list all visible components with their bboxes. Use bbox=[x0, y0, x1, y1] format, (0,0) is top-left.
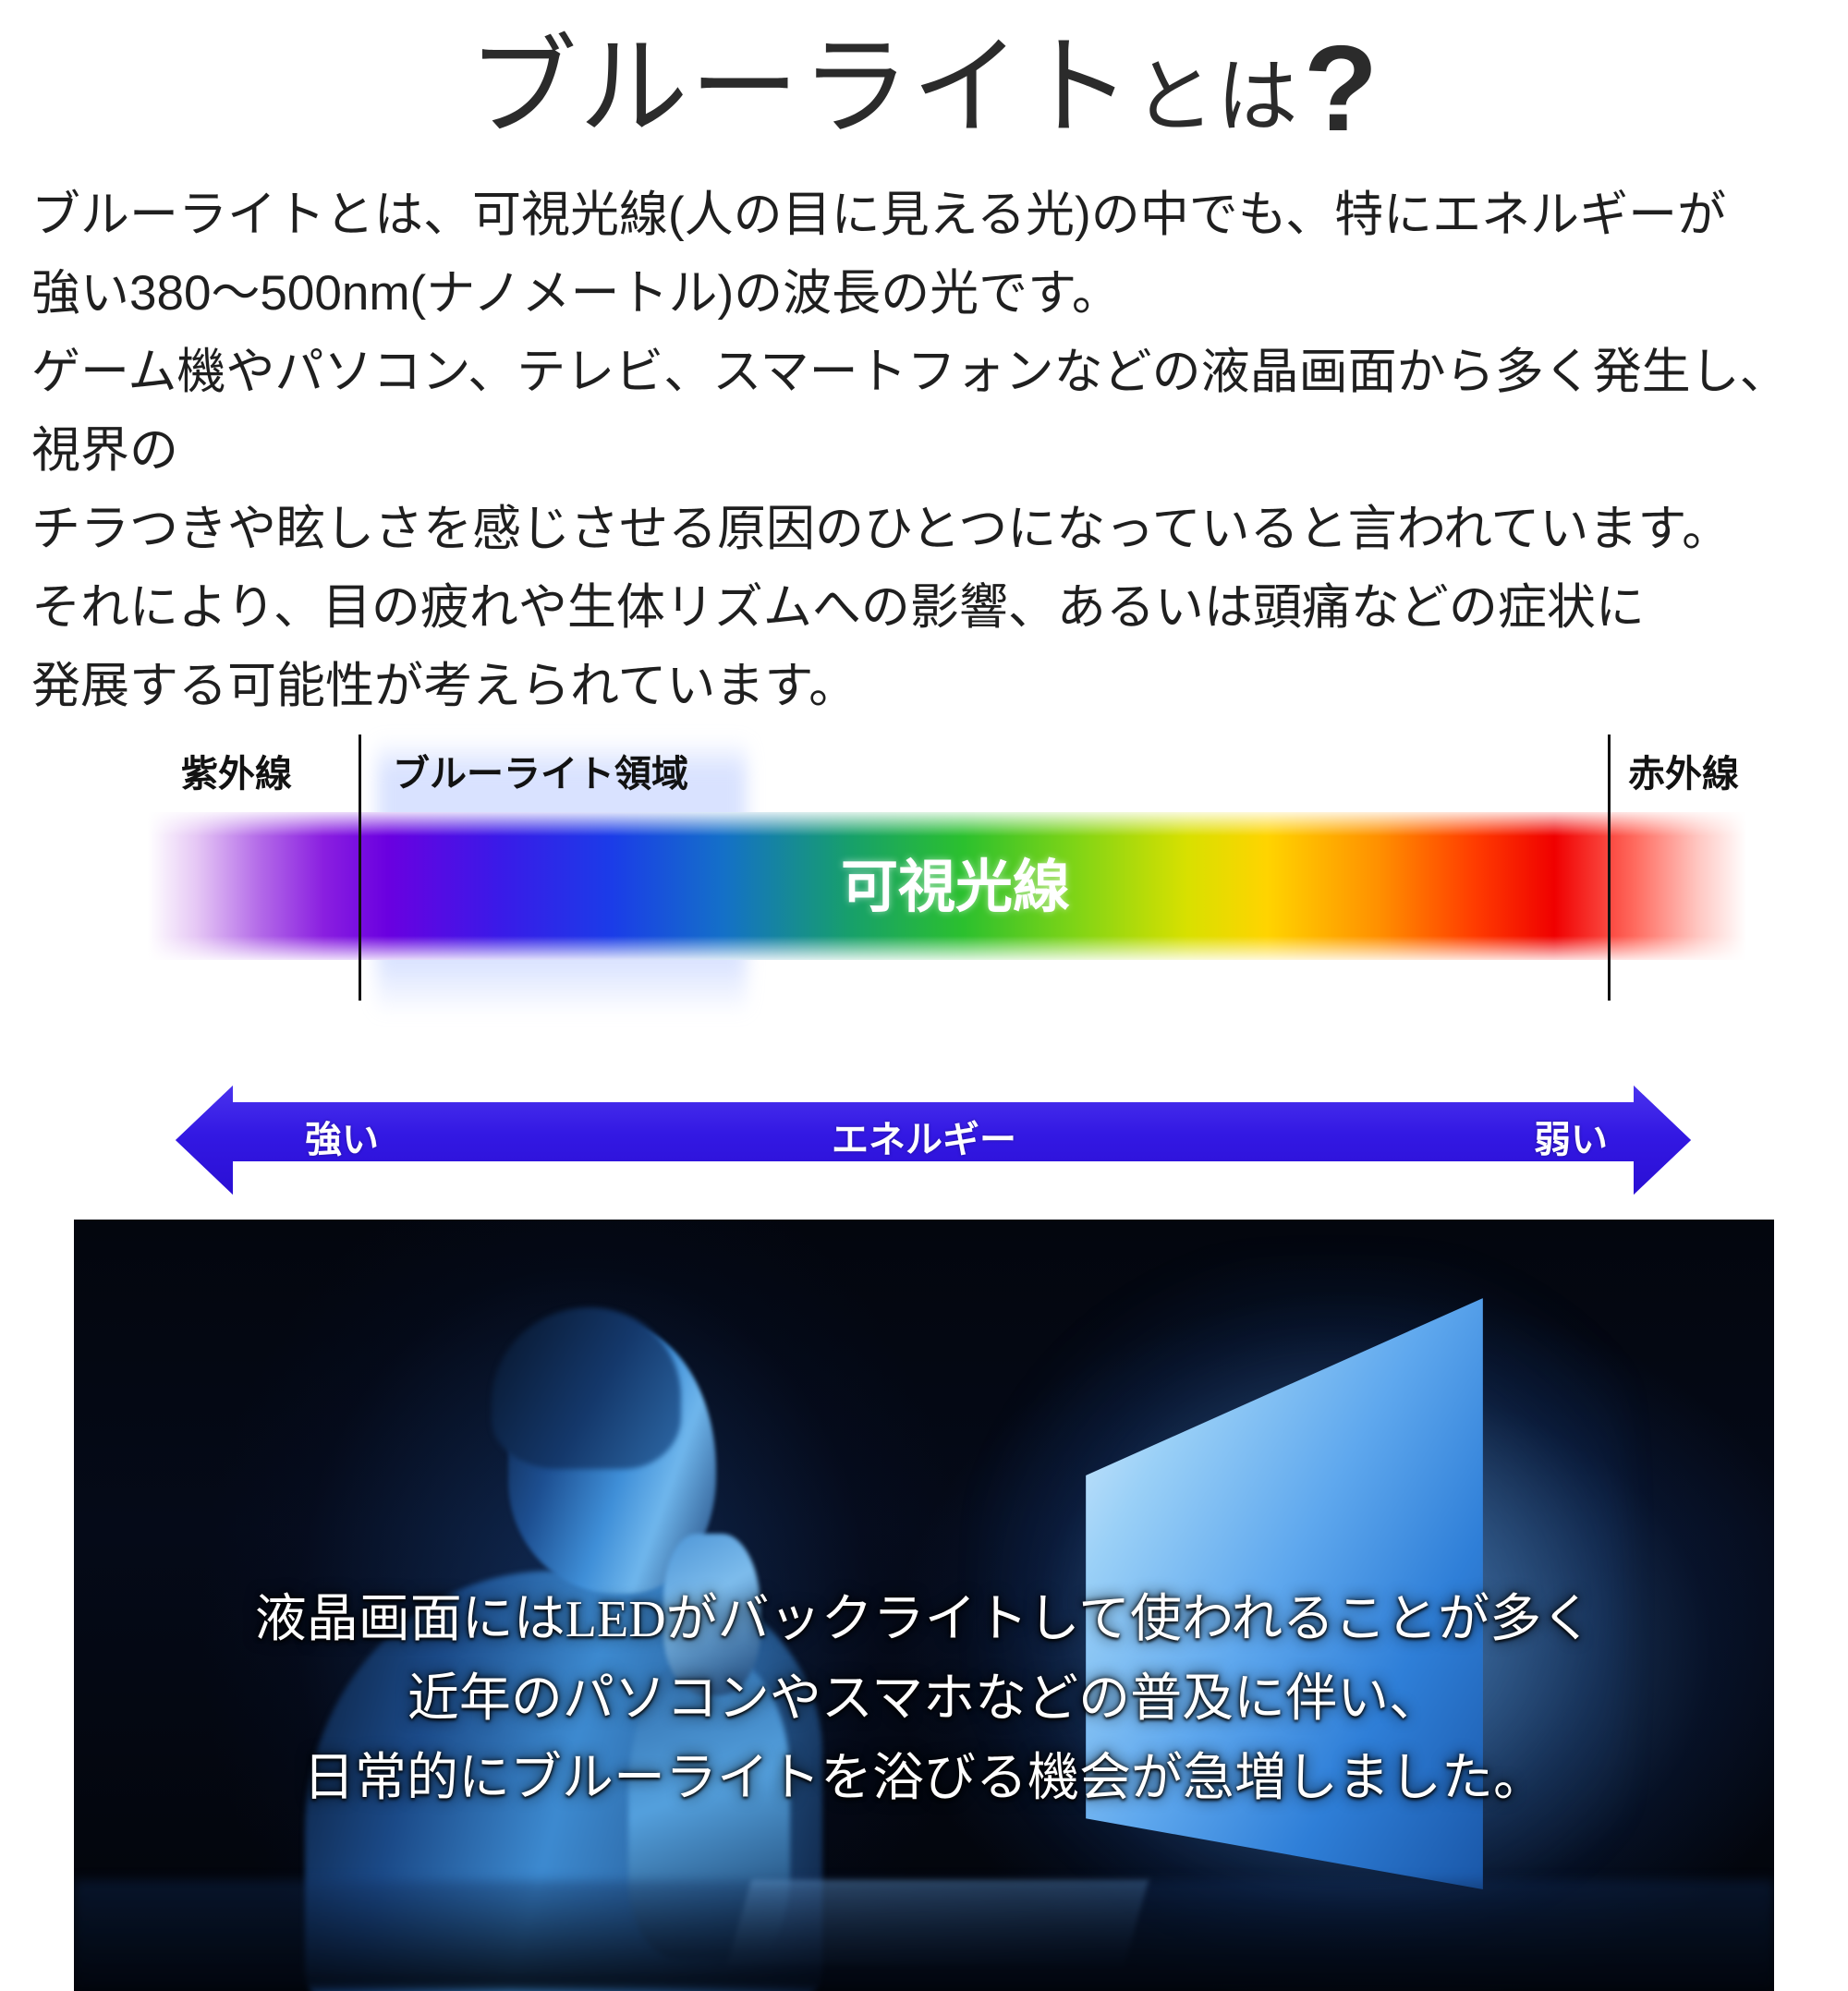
label-blue-light-region: ブルーライト領域 bbox=[393, 738, 688, 810]
intro-line-4: チラつきや眩しさを感じさせる原因のひとつになっていると言われています。 bbox=[31, 490, 1822, 568]
label-infrared: 赤外線 bbox=[1628, 738, 1739, 810]
photo-caption: 液晶画面にはLEDがバックライトして使われることが多く 近年のパソコンやスマホな… bbox=[74, 1580, 1774, 1818]
desk-surface bbox=[74, 1880, 1774, 1991]
intro-line-5: それにより、目の疲れや生体リズムへの影響、あるいは頭痛などの症状に bbox=[31, 568, 1822, 647]
page-header: ブルーライトとは? bbox=[0, 0, 1848, 176]
intro-paragraph: ブルーライトとは、可視光線(人の目に見える光)の中でも、特にエネルギーが 強い3… bbox=[31, 176, 1822, 725]
photo-caption-line-3: 日常的にブルーライトを浴びる機会が急増しました。 bbox=[74, 1739, 1774, 1818]
energy-scale: 強い エネルギー 弱い bbox=[0, 1086, 1848, 1210]
intro-line-6: 発展する可能性が考えられています。 bbox=[31, 647, 1822, 725]
photo-caption-line-2: 近年のパソコンやスマホなどの普及に伴い、 bbox=[74, 1659, 1774, 1739]
divider-infrared-boundary bbox=[1608, 734, 1611, 1001]
label-ultraviolet: 紫外線 bbox=[181, 738, 292, 810]
intro-line-1: ブルーライトとは、可視光線(人の目に見える光)の中でも、特にエネルギーが bbox=[31, 176, 1822, 254]
label-visible-light: 可視光線 bbox=[0, 819, 1848, 956]
question-mark-icon: ? bbox=[1304, 20, 1380, 156]
photo-man-at-monitor: 液晶画面にはLEDがバックライトして使われることが多く 近年のパソコンやスマホな… bbox=[74, 1220, 1774, 1991]
energy-label-weak: 弱い bbox=[1534, 1086, 1608, 1195]
page-title-main: ブルーライト bbox=[468, 27, 1134, 149]
photo-caption-line-1: 液晶画面にはLEDがバックライトして使われることが多く bbox=[74, 1580, 1774, 1659]
intro-line-3: ゲーム機やパソコン、テレビ、スマートフォンなどの液晶画面から多く発生し、視界の bbox=[31, 333, 1822, 490]
page-title: ブルーライトとは? bbox=[468, 9, 1380, 176]
divider-ultraviolet-boundary bbox=[359, 734, 361, 1001]
intro-line-2: 強い380〜500nm(ナノメートル)の波長の光です。 bbox=[31, 254, 1822, 333]
spectrum-band-labels: 紫外線 ブルーライト領域 赤外線 bbox=[0, 738, 1848, 810]
spectrum-diagram: 紫外線 ブルーライト領域 赤外線 可視光線 bbox=[0, 738, 1848, 1080]
page-title-sub: とは bbox=[1134, 51, 1300, 142]
